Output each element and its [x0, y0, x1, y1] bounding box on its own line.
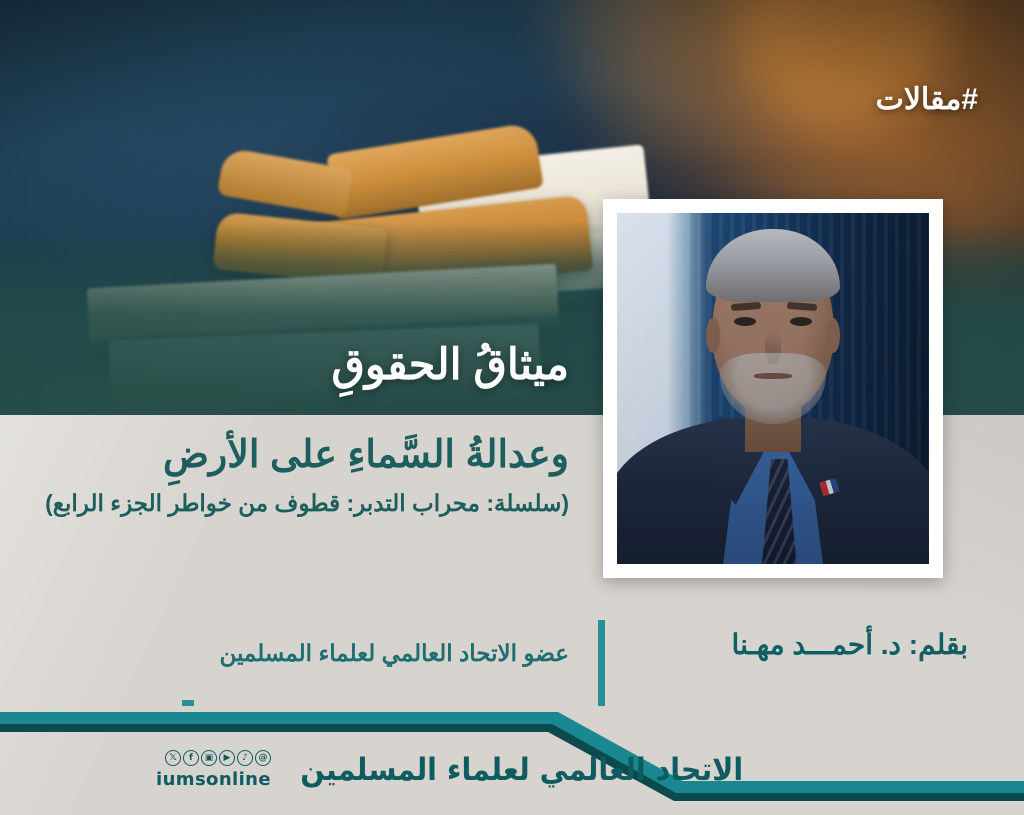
instagram-icon[interactable]: ▣	[201, 750, 217, 766]
article-poster: #مقالات ميثاقُ الحقوقِ وعدالةُ السَّماءِ…	[0, 0, 1024, 815]
iums-calligraphy-logo: الاتحاد العالمي لعلماء المسلمين	[300, 755, 743, 786]
title-line-2: وعدالةُ السَّماءِ على الأرضِ	[163, 432, 569, 477]
portrait-color-tone	[617, 213, 929, 564]
facebook-icon[interactable]: f	[183, 750, 199, 766]
youtube-icon[interactable]: ▶	[219, 750, 235, 766]
series-note: (سلسلة: محراب التدبر: قطوف من خواطر الجز…	[45, 490, 569, 517]
x-twitter-icon[interactable]: 𝕏	[165, 750, 181, 766]
footer-brand[interactable]: الاتحاد العالمي لعلماء المسلمين 𝕏 f ▣ ▶ …	[156, 750, 762, 790]
hashtag-label: #مقالات	[876, 82, 978, 117]
author-byline: بقلم: د. أحمـــد مهـنا	[732, 628, 968, 661]
tiktok-icon[interactable]: ♪	[237, 750, 253, 766]
author-portrait-photo	[617, 213, 929, 564]
decor-tick	[182, 700, 194, 706]
social-icons-row[interactable]: 𝕏 f ▣ ▶ ♪ @	[165, 750, 271, 766]
byline-divider	[598, 620, 605, 706]
threads-icon[interactable]: @	[255, 750, 271, 766]
social-handle: iumsonline	[156, 769, 271, 790]
title-line-1: ميثاقُ الحقوقِ	[331, 340, 569, 390]
author-portrait-frame	[603, 199, 943, 578]
author-affiliation: عضو الاتحاد العالمي لعلماء المسلمين	[219, 640, 569, 667]
